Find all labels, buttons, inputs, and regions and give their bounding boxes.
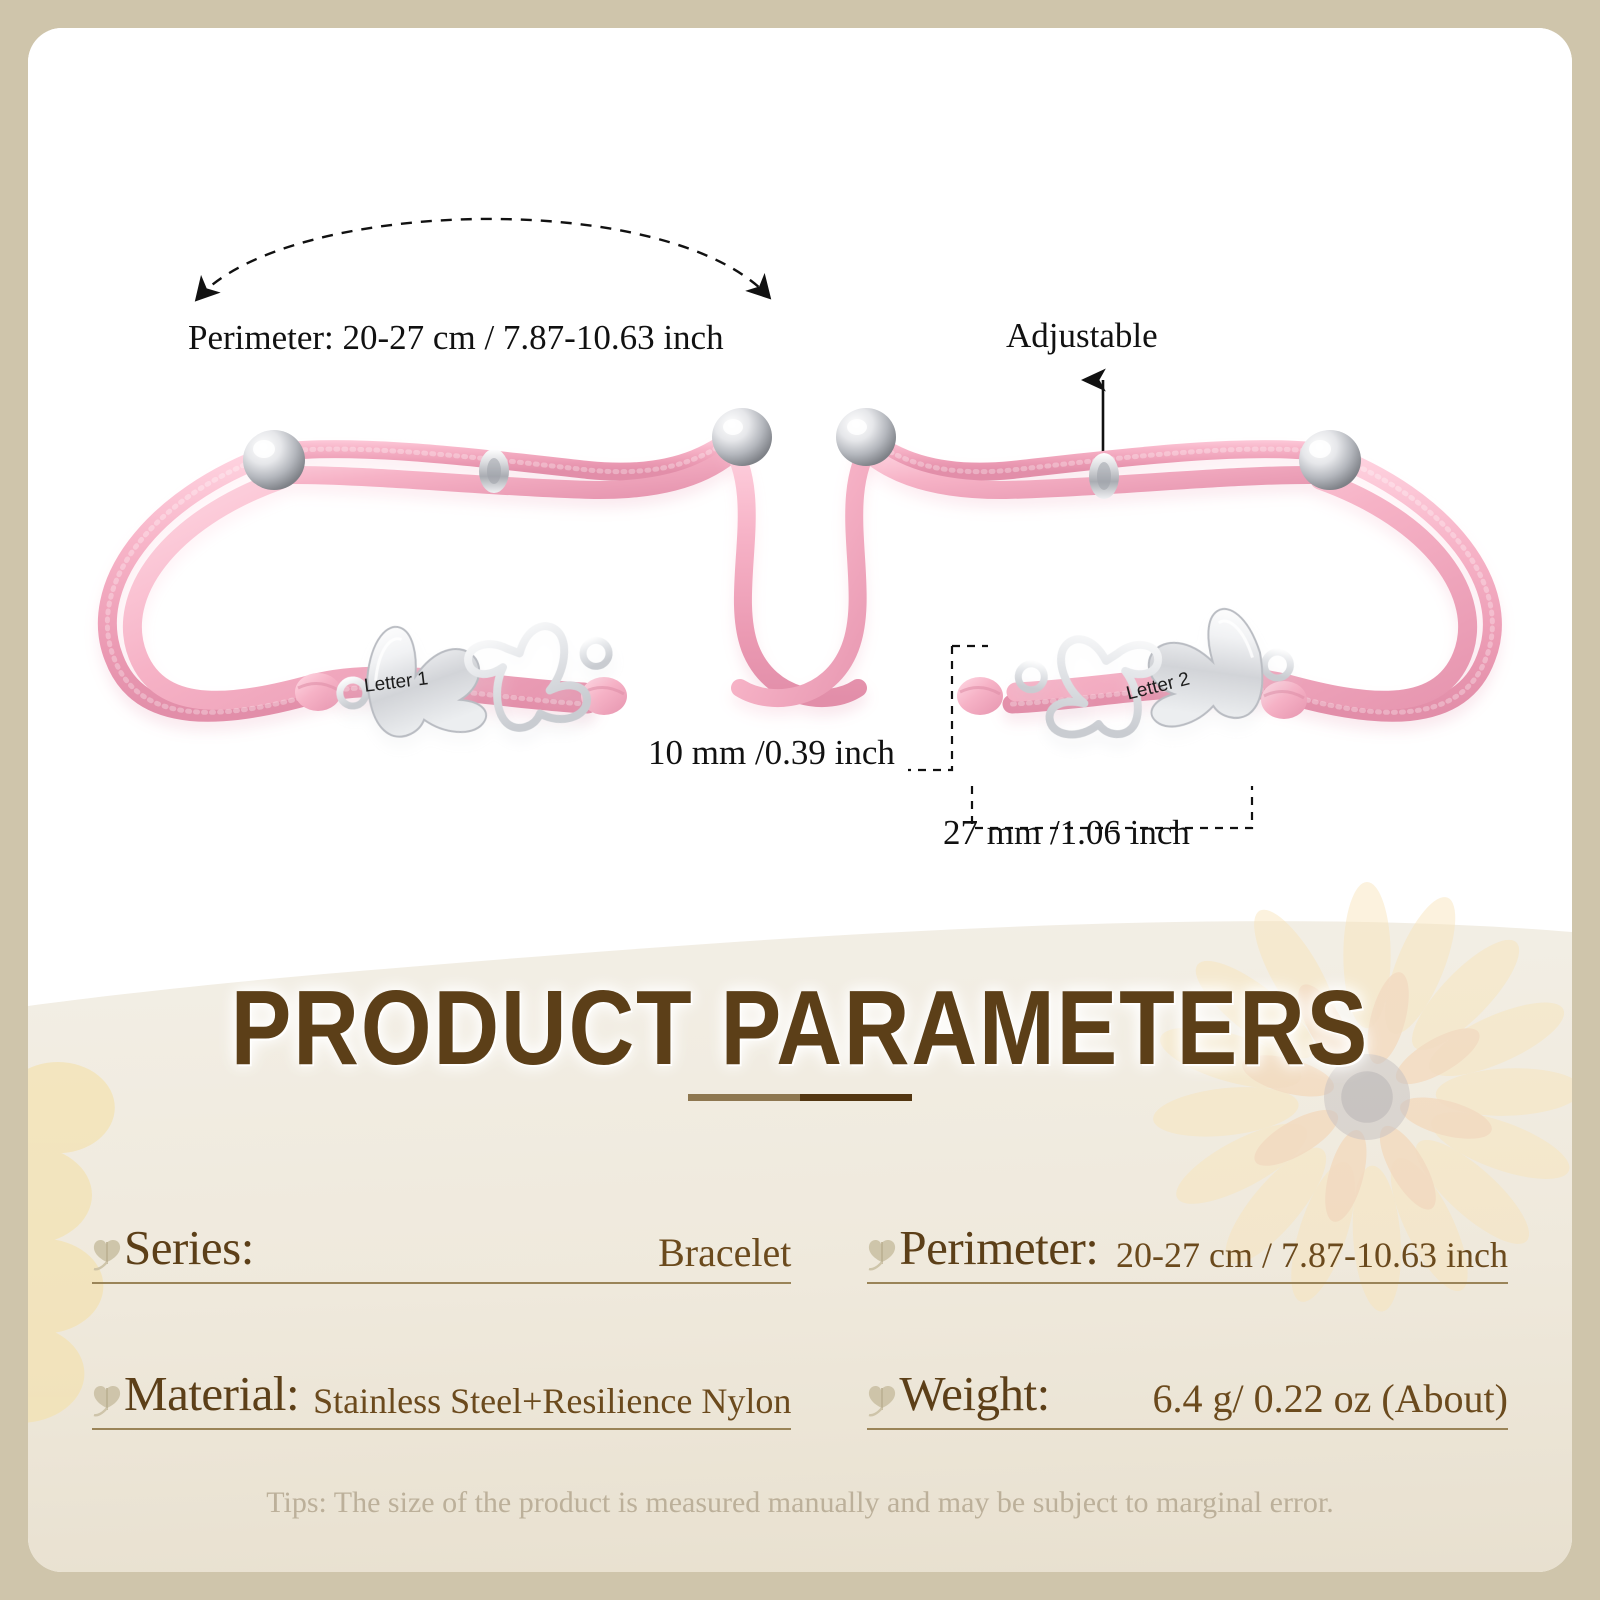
param-row-perimeter: Perimeter: 20-27 cm / 7.87-10.63 inch	[867, 1180, 1508, 1284]
butterfly-bullet-icon	[867, 1384, 897, 1418]
butterfly-bullet-icon	[867, 1238, 897, 1272]
charm-width-annotation: 27 mm /1.06 inch	[943, 813, 1190, 853]
param-row-material: Material: Stainless Steel+Resilience Nyl…	[92, 1326, 791, 1430]
param-value: Bracelet	[644, 1229, 791, 1276]
charm-height-annotation: 10 mm /0.39 inch	[648, 733, 895, 773]
perimeter-annotation: Perimeter: 20-27 cm / 7.87-10.63 inch	[188, 318, 724, 358]
knot-left-a	[295, 673, 341, 711]
knot-right-b	[1261, 681, 1307, 719]
param-value: 6.4 g/ 0.22 oz (About)	[1138, 1375, 1508, 1422]
bead-left-inner	[712, 408, 772, 466]
page-title: PRODUCT PARAMETERS	[231, 974, 1369, 1082]
bead-right-outer	[1299, 430, 1361, 490]
butterfly-bullet-icon	[92, 1238, 122, 1272]
outer-frame: Perimeter: 20-27 cm / 7.87-10.63 inch Ad…	[0, 0, 1600, 1600]
slider-ring-right	[1089, 453, 1119, 499]
bead-left-outer	[243, 430, 305, 490]
param-row-weight: Weight: 6.4 g/ 0.22 oz (About)	[867, 1326, 1508, 1430]
param-label: Series:	[124, 1219, 254, 1276]
slider-ring-left	[479, 449, 509, 493]
knot-right-a	[957, 677, 1003, 715]
param-label: Weight:	[899, 1365, 1049, 1422]
parameters-grid: Series: Bracelet Perimeter: 20-27 cm / 7…	[92, 1180, 1508, 1430]
content-panel: Perimeter: 20-27 cm / 7.87-10.63 inch Ad…	[28, 28, 1572, 1572]
param-value: Stainless Steel+Resilience Nylon	[299, 1380, 791, 1422]
param-row-series: Series: Bracelet	[92, 1180, 791, 1284]
title-divider	[688, 1094, 912, 1101]
product-illustration: Perimeter: 20-27 cm / 7.87-10.63 inch Ad…	[28, 28, 1572, 978]
param-label: Material:	[124, 1365, 299, 1422]
cord-crossover	[728, 440, 873, 698]
bracelet-diagram	[28, 28, 1572, 978]
charm-right	[1013, 603, 1295, 744]
adjustable-annotation: Adjustable	[1006, 316, 1158, 356]
bead-right-inner	[836, 408, 896, 466]
parameters-section: PRODUCT PARAMETERS Series: Bracelet	[28, 912, 1572, 1572]
param-value: 20-27 cm / 7.87-10.63 inch	[1102, 1234, 1508, 1276]
perimeter-arc-arrow	[198, 219, 768, 298]
param-label: Perimeter:	[899, 1219, 1098, 1276]
tips-note: Tips: The size of the product is measure…	[28, 1486, 1572, 1520]
parameters-title-wrap: PRODUCT PARAMETERS	[28, 974, 1572, 1101]
butterfly-bullet-icon	[92, 1384, 122, 1418]
